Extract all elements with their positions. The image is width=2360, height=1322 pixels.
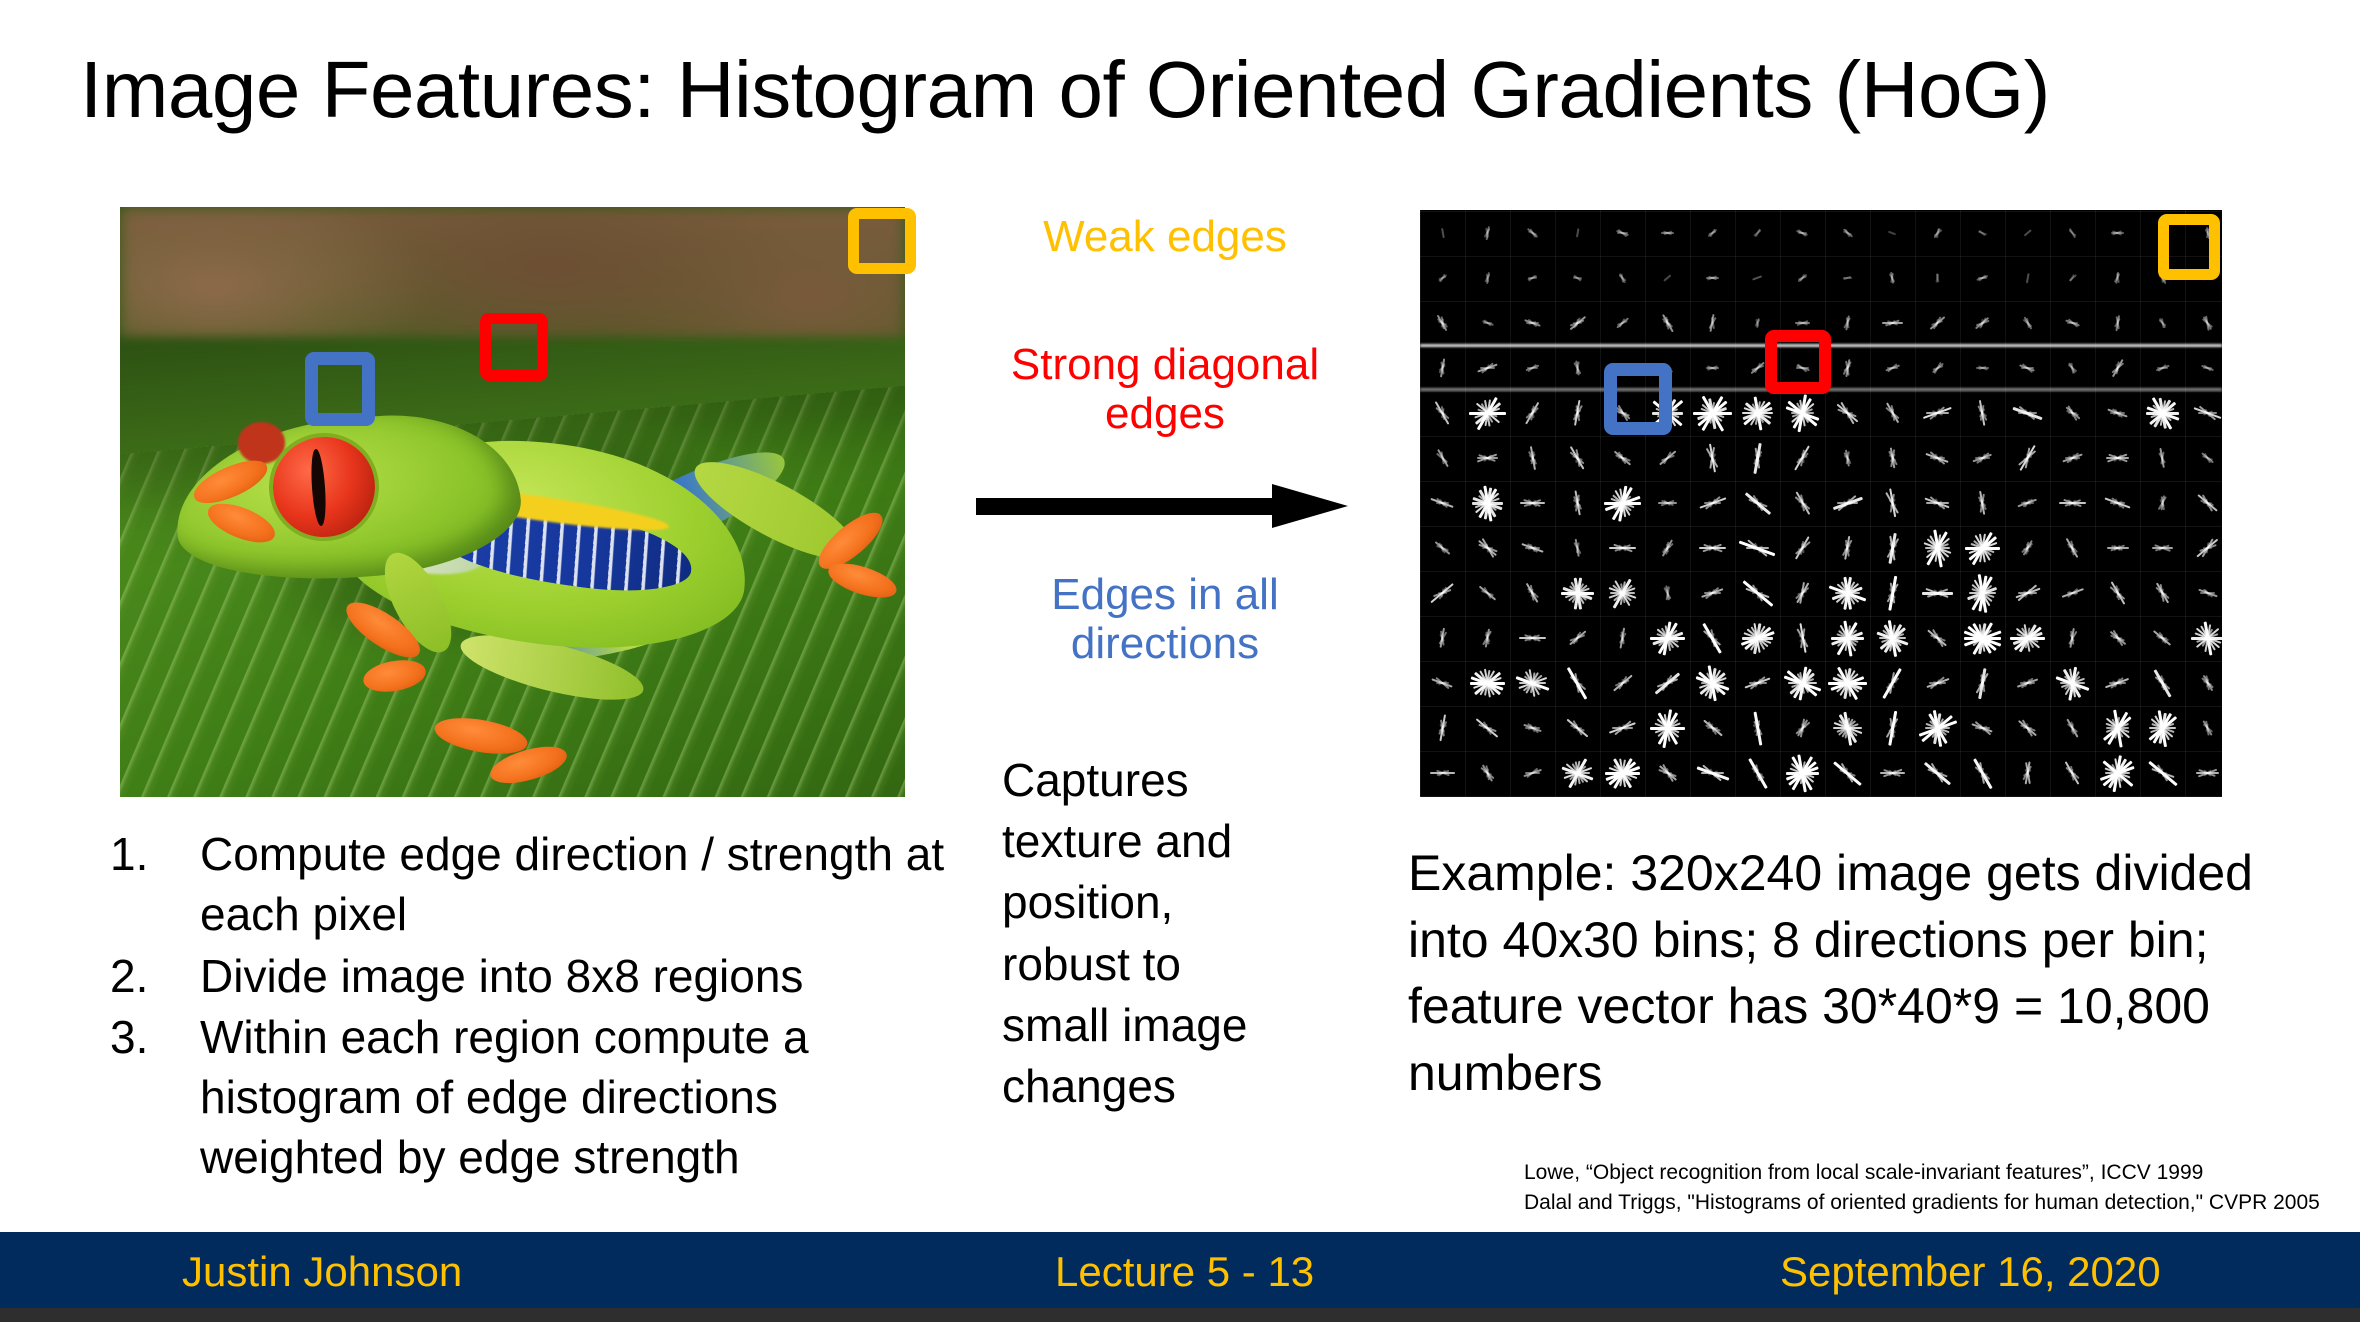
hog-cell bbox=[2095, 345, 2140, 390]
hog-cell bbox=[1690, 300, 1735, 345]
hog-cell bbox=[1825, 705, 1870, 750]
hog-cell bbox=[1960, 435, 2005, 480]
hog-cell bbox=[1735, 705, 1780, 750]
hog-cell bbox=[1960, 615, 2005, 660]
hog-orientation-bar bbox=[1664, 274, 1672, 281]
hog-cell bbox=[2140, 390, 2185, 435]
hog-cell bbox=[1780, 660, 1825, 705]
hog-cell bbox=[1465, 345, 1510, 390]
hog-cell bbox=[1555, 300, 1600, 345]
hog-cell bbox=[1555, 345, 1600, 390]
hog-cell bbox=[1915, 480, 1960, 525]
hog-cell bbox=[1645, 570, 1690, 615]
hog-cell bbox=[2095, 255, 2140, 300]
hog-cell bbox=[2005, 660, 2050, 705]
hog-cell bbox=[2005, 255, 2050, 300]
hog-cell bbox=[1510, 570, 1555, 615]
annotation-box-yellow-hog bbox=[2158, 214, 2220, 280]
hog-cell bbox=[2185, 750, 2222, 795]
hog-cell bbox=[1870, 570, 1915, 615]
hog-cell bbox=[1870, 255, 1915, 300]
frog-far-eye bbox=[238, 422, 285, 463]
hog-cell bbox=[1555, 660, 1600, 705]
example-description: Example: 320x240 image gets divided into… bbox=[1408, 840, 2258, 1106]
hog-cell bbox=[1690, 210, 1735, 255]
hog-cell bbox=[1735, 750, 1780, 795]
hog-cell bbox=[2050, 480, 2095, 525]
hog-orientation-bar bbox=[1666, 767, 1670, 777]
annotation-box-blue-photo bbox=[305, 352, 375, 426]
hog-cell bbox=[1870, 525, 1915, 570]
hog-cell bbox=[1735, 435, 1780, 480]
hog-cell bbox=[1915, 705, 1960, 750]
hog-cell bbox=[1960, 255, 2005, 300]
hog-cell bbox=[2005, 570, 2050, 615]
hog-cell bbox=[2140, 570, 2185, 615]
hog-cell bbox=[2185, 300, 2222, 345]
hog-orientation-bar bbox=[1576, 228, 1580, 238]
hog-cell bbox=[1690, 750, 1735, 795]
right-arrow-icon bbox=[976, 482, 1348, 530]
hog-cell bbox=[1465, 615, 1510, 660]
hog-orientation-bar bbox=[2161, 768, 2165, 778]
hog-cell bbox=[2140, 705, 2185, 750]
hog-cell bbox=[1690, 660, 1735, 705]
hog-cell bbox=[1825, 615, 1870, 660]
hog-cell bbox=[2095, 480, 2140, 525]
step-text: Divide image into 8x8 regions bbox=[200, 950, 803, 1002]
hog-cell bbox=[1600, 570, 1645, 615]
hog-cell bbox=[2095, 615, 2140, 660]
hog-cell bbox=[1780, 210, 1825, 255]
hog-orientation-bar bbox=[2023, 229, 2031, 236]
hog-cell bbox=[1420, 255, 1465, 300]
hog-visualization bbox=[1420, 210, 2222, 797]
hog-cell bbox=[2140, 660, 2185, 705]
hog-cell bbox=[2185, 480, 2222, 525]
hog-orientation-bar bbox=[2026, 317, 2030, 327]
hog-cell bbox=[1555, 255, 1600, 300]
hog-cell bbox=[1510, 210, 1555, 255]
hog-cell bbox=[1825, 300, 1870, 345]
hog-cell bbox=[2005, 390, 2050, 435]
hog-cell bbox=[1915, 255, 1960, 300]
steps-list: Compute edge direction / strength at eac… bbox=[110, 825, 950, 1190]
hog-cell bbox=[1915, 435, 1960, 480]
hog-cell bbox=[1600, 435, 1645, 480]
hog-cell bbox=[1645, 480, 1690, 525]
hog-cell bbox=[1555, 705, 1600, 750]
hog-cell bbox=[1780, 615, 1825, 660]
hog-cell bbox=[1780, 525, 1825, 570]
citation-line: Lowe, “Object recognition from local sca… bbox=[1524, 1158, 2354, 1188]
hog-cell bbox=[2185, 660, 2222, 705]
hog-cell bbox=[1510, 750, 1555, 795]
hog-cell bbox=[1420, 570, 1465, 615]
hog-cell bbox=[2050, 435, 2095, 480]
hog-cell bbox=[2095, 300, 2140, 345]
hog-cell bbox=[1915, 660, 1960, 705]
captures-description: Captures texture and position, robust to… bbox=[1002, 750, 1292, 1117]
hog-cell bbox=[2095, 435, 2140, 480]
footer-author: Justin Johnson bbox=[182, 1248, 462, 1296]
hog-cell bbox=[2095, 660, 2140, 705]
hog-cell bbox=[2005, 435, 2050, 480]
hog-cell bbox=[2185, 525, 2222, 570]
hog-cell bbox=[2005, 345, 2050, 390]
hog-orientation-bar bbox=[1936, 633, 1940, 643]
hog-cell bbox=[2050, 255, 2095, 300]
hog-cell bbox=[1960, 570, 2005, 615]
hog-cell bbox=[1645, 435, 1690, 480]
bottom-strip bbox=[0, 1308, 2360, 1322]
hog-cell bbox=[1825, 255, 1870, 300]
hog-cell bbox=[1555, 750, 1600, 795]
hog-cell bbox=[1645, 255, 1690, 300]
hog-cell bbox=[1960, 705, 2005, 750]
annotation-box-red-hog bbox=[1765, 330, 1831, 394]
hog-cell bbox=[2140, 615, 2185, 660]
hog-cell bbox=[1915, 615, 1960, 660]
hog-cell bbox=[2050, 615, 2095, 660]
hog-cell bbox=[1465, 255, 1510, 300]
hog-cell bbox=[2185, 345, 2222, 390]
hog-cell bbox=[1420, 615, 1465, 660]
hog-cell bbox=[1825, 525, 1870, 570]
hog-cell bbox=[1600, 615, 1645, 660]
hog-cell bbox=[1555, 570, 1600, 615]
hog-cell bbox=[1600, 480, 1645, 525]
hog-cell bbox=[2185, 705, 2222, 750]
footer-bar: Justin Johnson Lecture 5 - 13 September … bbox=[0, 1232, 2360, 1308]
hog-cell bbox=[1870, 435, 1915, 480]
hog-cell bbox=[1735, 660, 1780, 705]
hog-cell bbox=[1960, 210, 2005, 255]
hog-cell bbox=[1780, 435, 1825, 480]
hog-cell bbox=[1420, 480, 1465, 525]
hog-cell bbox=[1870, 660, 1915, 705]
hog-cell bbox=[1465, 435, 1510, 480]
hog-cell bbox=[1735, 390, 1780, 435]
hog-cell bbox=[1510, 435, 1555, 480]
hog-cell bbox=[2005, 750, 2050, 795]
hog-cell bbox=[1420, 390, 1465, 435]
list-item: Divide image into 8x8 regions bbox=[200, 947, 950, 1007]
hog-cell bbox=[2050, 750, 2095, 795]
hog-cell bbox=[1645, 300, 1690, 345]
hog-cell bbox=[1690, 255, 1735, 300]
hog-orientation-bar bbox=[1888, 230, 1896, 235]
hog-cell bbox=[2140, 300, 2185, 345]
hog-cell bbox=[1870, 750, 1915, 795]
citation-line: Dalal and Triggs, "Histograms of oriente… bbox=[1524, 1188, 2354, 1218]
annotation-box-red-photo bbox=[480, 313, 548, 381]
hog-orientation-bar bbox=[2161, 318, 2165, 328]
hog-cell bbox=[1870, 615, 1915, 660]
hog-cell bbox=[1825, 345, 1870, 390]
footer-lecture-number: Lecture 5 - 13 bbox=[1055, 1248, 1314, 1296]
hog-cell bbox=[1690, 615, 1735, 660]
step-text: Compute edge direction / strength at eac… bbox=[200, 828, 944, 940]
hog-cell bbox=[2050, 345, 2095, 390]
hog-cell bbox=[1960, 750, 2005, 795]
hog-orientation-bar bbox=[2061, 588, 2084, 598]
hog-cell bbox=[2185, 390, 2222, 435]
hog-cell bbox=[2050, 210, 2095, 255]
annotation-box-blue-hog bbox=[1604, 363, 1672, 435]
hog-cell bbox=[1915, 390, 1960, 435]
hog-cell bbox=[2095, 570, 2140, 615]
hog-cell bbox=[2050, 660, 2095, 705]
strong-diagonal-edges-label: Strong diagonal edges bbox=[960, 340, 1370, 439]
hog-cell bbox=[1510, 525, 1555, 570]
hog-cell bbox=[2140, 345, 2185, 390]
hog-cell bbox=[1645, 750, 1690, 795]
hog-cell bbox=[1870, 480, 1915, 525]
hog-cell bbox=[1690, 705, 1735, 750]
hog-cell bbox=[2140, 525, 2185, 570]
hog-cell bbox=[1510, 300, 1555, 345]
hog-cell bbox=[1510, 255, 1555, 300]
hog-cell bbox=[2095, 705, 2140, 750]
hog-cell bbox=[1960, 390, 2005, 435]
hog-cell bbox=[1510, 345, 1555, 390]
hog-cell bbox=[1780, 390, 1825, 435]
hog-cell bbox=[1420, 435, 1465, 480]
weak-edges-label: Weak edges bbox=[970, 212, 1360, 261]
hog-cell bbox=[2050, 300, 2095, 345]
hog-cell bbox=[1825, 390, 1870, 435]
hog-cell bbox=[1420, 300, 1465, 345]
hog-cell bbox=[1510, 705, 1555, 750]
hog-cell bbox=[1735, 255, 1780, 300]
hog-cell bbox=[1780, 750, 1825, 795]
hog-cell bbox=[1960, 525, 2005, 570]
hog-cell bbox=[1870, 300, 1915, 345]
hog-cell bbox=[1420, 705, 1465, 750]
hog-cell bbox=[2005, 705, 2050, 750]
hog-orientation-bar bbox=[2026, 723, 2030, 733]
citations: Lowe, “Object recognition from local sca… bbox=[1524, 1158, 2354, 1218]
frog-photo bbox=[120, 207, 905, 797]
hog-cell bbox=[1780, 570, 1825, 615]
hog-cell bbox=[1600, 255, 1645, 300]
hog-cell bbox=[2095, 525, 2140, 570]
hog-cell bbox=[2005, 525, 2050, 570]
hog-cell bbox=[1735, 210, 1780, 255]
hog-cell bbox=[1915, 210, 1960, 255]
hog-orientation-bar bbox=[1441, 227, 1445, 237]
hog-cell bbox=[2005, 210, 2050, 255]
hog-cell bbox=[1465, 570, 1510, 615]
page-title: Image Features: Histogram of Oriented Gr… bbox=[80, 48, 2320, 132]
hog-cell bbox=[1960, 345, 2005, 390]
step-text: Within each region compute a histogram o… bbox=[200, 1011, 809, 1183]
hog-cell bbox=[1915, 300, 1960, 345]
list-item: Compute edge direction / strength at eac… bbox=[200, 825, 950, 945]
hog-cell bbox=[2050, 525, 2095, 570]
hog-cell bbox=[1690, 390, 1735, 435]
hog-cell bbox=[1600, 660, 1645, 705]
list-item: Within each region compute a histogram o… bbox=[200, 1008, 950, 1187]
hog-cell bbox=[1690, 525, 1735, 570]
hog-cell bbox=[1960, 480, 2005, 525]
hog-cell bbox=[1870, 345, 1915, 390]
hog-cell bbox=[1780, 480, 1825, 525]
hog-cell bbox=[2185, 435, 2222, 480]
hog-cell bbox=[1510, 615, 1555, 660]
hog-cell bbox=[1735, 480, 1780, 525]
hog-orientation-bar bbox=[1756, 498, 1760, 508]
hog-cell bbox=[1690, 345, 1735, 390]
hog-cell bbox=[1600, 210, 1645, 255]
hog-cell bbox=[1915, 570, 1960, 615]
hog-cell bbox=[1555, 210, 1600, 255]
hog-cell bbox=[1510, 390, 1555, 435]
hog-cell bbox=[1690, 570, 1735, 615]
hog-cell bbox=[1555, 390, 1600, 435]
hog-cell bbox=[1825, 750, 1870, 795]
hog-cell bbox=[1960, 660, 2005, 705]
annotation-box-yellow-photo bbox=[848, 208, 916, 274]
hog-orientation-bar bbox=[1752, 275, 1762, 280]
hog-cell bbox=[1465, 210, 1510, 255]
hog-cell bbox=[2185, 615, 2222, 660]
hog-cell bbox=[1510, 480, 1555, 525]
hog-orientation-bar bbox=[1617, 320, 1628, 326]
hog-cell bbox=[1870, 705, 1915, 750]
hog-cell bbox=[1645, 705, 1690, 750]
hog-cell bbox=[1600, 300, 1645, 345]
hog-cell bbox=[1645, 525, 1690, 570]
hog-cell bbox=[1420, 750, 1465, 795]
hog-cell bbox=[1735, 615, 1780, 660]
hog-cell bbox=[1465, 750, 1510, 795]
hog-cell bbox=[1825, 210, 1870, 255]
hog-cell bbox=[1600, 525, 1645, 570]
hog-cell bbox=[1420, 660, 1465, 705]
hog-cell bbox=[1645, 615, 1690, 660]
hog-cell bbox=[1645, 660, 1690, 705]
hog-cell bbox=[2185, 570, 2222, 615]
hog-cell bbox=[1555, 525, 1600, 570]
hog-cell bbox=[1600, 705, 1645, 750]
hog-cell bbox=[2095, 390, 2140, 435]
hog-cell bbox=[1780, 255, 1825, 300]
hog-cell bbox=[1870, 210, 1915, 255]
hog-cell bbox=[2005, 480, 2050, 525]
hog-cell bbox=[1690, 435, 1735, 480]
hog-cell bbox=[1825, 435, 1870, 480]
hog-cell bbox=[1690, 480, 1735, 525]
hog-cell bbox=[1465, 705, 1510, 750]
hog-cell bbox=[1735, 570, 1780, 615]
hog-cell bbox=[1420, 345, 1465, 390]
hog-orientation-bar bbox=[2069, 227, 2076, 237]
hog-cell bbox=[1960, 300, 2005, 345]
hog-cell bbox=[1465, 390, 1510, 435]
hog-cell bbox=[1915, 750, 1960, 795]
hog-cell bbox=[2140, 750, 2185, 795]
hog-cell bbox=[1510, 660, 1555, 705]
hog-cell bbox=[2140, 435, 2185, 480]
hog-orientation-bar bbox=[2026, 273, 2030, 283]
hog-cell bbox=[2005, 300, 2050, 345]
hog-cell bbox=[2140, 480, 2185, 525]
hog-cell bbox=[1600, 750, 1645, 795]
hog-cell bbox=[1420, 210, 1465, 255]
hog-cell bbox=[1645, 210, 1690, 255]
hog-cell bbox=[1825, 660, 1870, 705]
hog-cell bbox=[2050, 705, 2095, 750]
hog-cell bbox=[2005, 615, 2050, 660]
hog-cell bbox=[1465, 480, 1510, 525]
hog-cell bbox=[1465, 525, 1510, 570]
hog-cell bbox=[2095, 210, 2140, 255]
hog-cell bbox=[1420, 525, 1465, 570]
hog-cell bbox=[1555, 435, 1600, 480]
hog-cell bbox=[1555, 615, 1600, 660]
hog-cell bbox=[1915, 345, 1960, 390]
hog-cell bbox=[1915, 525, 1960, 570]
hog-cell bbox=[2095, 750, 2140, 795]
hog-cell bbox=[2050, 570, 2095, 615]
hog-cell bbox=[1825, 570, 1870, 615]
hog-cell bbox=[1780, 705, 1825, 750]
hog-cell bbox=[1870, 390, 1915, 435]
hog-cell bbox=[2050, 390, 2095, 435]
edges-all-directions-label: Edges in all directions bbox=[970, 570, 1360, 669]
footer-date: September 16, 2020 bbox=[1780, 1248, 2161, 1296]
hog-cell bbox=[1465, 300, 1510, 345]
hog-cell bbox=[1735, 525, 1780, 570]
hog-cell bbox=[1555, 480, 1600, 525]
hog-cell bbox=[1825, 480, 1870, 525]
hog-cell bbox=[1465, 660, 1510, 705]
